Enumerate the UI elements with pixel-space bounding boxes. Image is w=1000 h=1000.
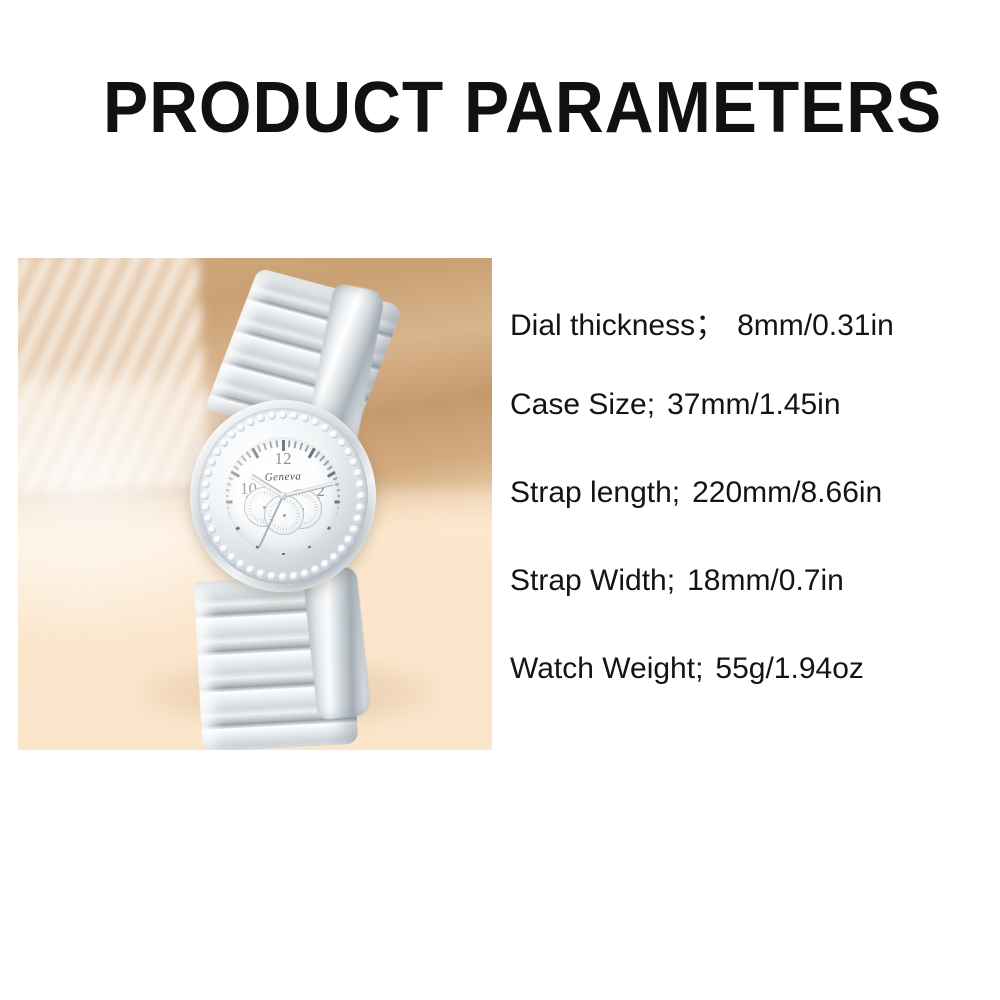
spec-row-strap-width: Strap Width ; 18mm/0.7in bbox=[510, 564, 970, 652]
dial-tick bbox=[319, 542, 325, 549]
bezel-crystal bbox=[279, 573, 287, 581]
bezel-crystal bbox=[268, 572, 276, 580]
bezel-crystal bbox=[204, 515, 212, 523]
watch-dial: 12 2 4 8 10 Geneva bbox=[226, 437, 340, 555]
bezel-crystal bbox=[290, 572, 298, 580]
dial-tick bbox=[226, 518, 231, 522]
page-title: PRODUCT PARAMETERS bbox=[103, 72, 942, 144]
bezel-crystal bbox=[350, 526, 358, 534]
dial-tick bbox=[293, 441, 296, 448]
bezel-crystal bbox=[290, 412, 298, 420]
dial-tick bbox=[335, 482, 340, 486]
dial-tick bbox=[304, 552, 309, 555]
spec-row-dial-thickness: Dial thickness ； 8mm/0.31in bbox=[510, 300, 970, 388]
spec-value-strap-length: 220mm/8.66in bbox=[680, 476, 882, 510]
subdial-bottom bbox=[264, 495, 304, 535]
spec-row-strap-length: Strap length ; 220mm/8.66in bbox=[510, 476, 970, 564]
dial-tick bbox=[327, 465, 334, 471]
bezel-crystal bbox=[354, 469, 362, 477]
bezel-crystal bbox=[311, 566, 319, 574]
dial-tick bbox=[236, 460, 243, 466]
dial-tick bbox=[299, 443, 303, 450]
dial-tick bbox=[269, 441, 272, 448]
dial-numeral-12: 12 bbox=[275, 449, 292, 469]
product-photo: 12 2 4 8 10 Geneva bbox=[18, 258, 492, 750]
spec-label-case-size: Case Size bbox=[510, 388, 647, 422]
dial-tick bbox=[333, 523, 340, 528]
spec-row-watch-weight: Watch Weight ; 55g/1.94oz bbox=[510, 652, 970, 740]
dial-tick bbox=[323, 460, 330, 466]
spec-value-watch-weight: 55g/1.94oz bbox=[703, 652, 863, 686]
spec-separator-strap-width: ; bbox=[667, 564, 675, 598]
spec-separator-case-size: ; bbox=[647, 388, 655, 422]
spec-value-strap-width: 18mm/0.7in bbox=[675, 564, 844, 598]
spec-row-case-size: Case Size ; 37mm/1.45in bbox=[510, 388, 970, 476]
dial-tick bbox=[226, 523, 233, 528]
spec-label-dial-thickness: Dial thickness bbox=[510, 309, 695, 343]
dial-tick bbox=[257, 445, 262, 452]
dial-tick bbox=[299, 554, 303, 555]
watch-case: 12 2 4 8 10 Geneva bbox=[190, 400, 376, 592]
dial-tick bbox=[232, 534, 239, 540]
hands-pivot bbox=[279, 492, 287, 500]
wristwatch: 12 2 4 8 10 Geneva bbox=[168, 278, 388, 738]
spec-label-strap-length: Strap length bbox=[510, 476, 672, 510]
bezel-crystal bbox=[321, 424, 329, 432]
bezel-crystal bbox=[213, 448, 221, 456]
dial-tick bbox=[333, 476, 340, 481]
dial-tick bbox=[323, 538, 330, 544]
bezel-crystal bbox=[208, 458, 216, 466]
bezel-crystal bbox=[311, 418, 319, 426]
bezel-crystal bbox=[268, 412, 276, 420]
bezel-crystal bbox=[301, 570, 309, 578]
bezel-crystal bbox=[321, 560, 329, 568]
dial-tick bbox=[257, 552, 262, 555]
bezel-crystal bbox=[213, 536, 221, 544]
bezel-crystal bbox=[247, 566, 255, 574]
dial-tick bbox=[241, 542, 247, 549]
spec-value-case-size: 37mm/1.45in bbox=[655, 388, 840, 422]
bezel-crystal bbox=[345, 448, 353, 456]
dial-tick bbox=[226, 501, 232, 504]
dial-tick bbox=[288, 440, 291, 447]
bezel-crystal bbox=[257, 570, 265, 578]
bezel-crystal bbox=[202, 481, 210, 489]
dial-tick bbox=[334, 501, 340, 504]
rhinestone-bezel: 12 2 4 8 10 Geneva bbox=[198, 408, 368, 584]
bezel-crystal bbox=[356, 504, 364, 512]
dial-tick bbox=[338, 495, 340, 498]
dial-tick bbox=[263, 443, 267, 450]
dial-tick bbox=[226, 507, 228, 510]
spec-separator-strap-length: ; bbox=[672, 476, 680, 510]
spec-separator-watch-weight: ; bbox=[695, 652, 703, 686]
dial-tick bbox=[226, 512, 229, 515]
bezel-crystal bbox=[357, 492, 365, 500]
dial-tick bbox=[337, 512, 340, 515]
bezel-crystal bbox=[301, 414, 309, 422]
dial-tick bbox=[315, 451, 321, 458]
bezel-crystal bbox=[237, 560, 245, 568]
dial-tick bbox=[232, 465, 239, 471]
spec-separator-dial-thickness: ； bbox=[695, 300, 725, 344]
bezel-crystal bbox=[279, 411, 287, 419]
dial-tick bbox=[226, 495, 228, 498]
dial-tick bbox=[276, 440, 279, 447]
dial-tick bbox=[315, 546, 321, 553]
spec-label-strap-width: Strap Width bbox=[510, 564, 667, 598]
dial-tick bbox=[337, 488, 340, 491]
dial-tick bbox=[335, 518, 340, 522]
bezel-crystal bbox=[201, 492, 209, 500]
dial-brand-logo: Geneva bbox=[265, 470, 302, 483]
bezel-crystal bbox=[354, 515, 362, 523]
bezel-crystal bbox=[350, 458, 358, 466]
dial-tick bbox=[246, 451, 252, 458]
bezel-crystal bbox=[204, 469, 212, 477]
dial-tick bbox=[236, 538, 243, 544]
bezel-crystal bbox=[202, 504, 210, 512]
dial-tick bbox=[263, 554, 267, 555]
bezel-crystal bbox=[257, 414, 265, 422]
dial-tick bbox=[241, 455, 247, 462]
dial-tick bbox=[319, 455, 325, 462]
dial-tick bbox=[226, 482, 231, 486]
bezel-crystal bbox=[247, 418, 255, 426]
bezel-crystal bbox=[345, 536, 353, 544]
bezel-crystal bbox=[237, 424, 245, 432]
dial-tick bbox=[246, 546, 252, 553]
dial-tick bbox=[226, 476, 233, 481]
bezel-crystal bbox=[208, 526, 216, 534]
spec-value-dial-thickness: 8mm/0.31in bbox=[725, 309, 894, 343]
dial-tick bbox=[282, 553, 285, 555]
dial-tick bbox=[304, 445, 309, 452]
product-parameter-list: Dial thickness ； 8mm/0.31in Case Size ; … bbox=[510, 300, 970, 740]
dial-tick bbox=[338, 507, 340, 510]
bezel-crystal bbox=[356, 481, 364, 489]
dial-tick bbox=[327, 534, 334, 540]
dial-tick bbox=[226, 488, 229, 491]
spec-label-watch-weight: Watch Weight bbox=[510, 652, 695, 686]
